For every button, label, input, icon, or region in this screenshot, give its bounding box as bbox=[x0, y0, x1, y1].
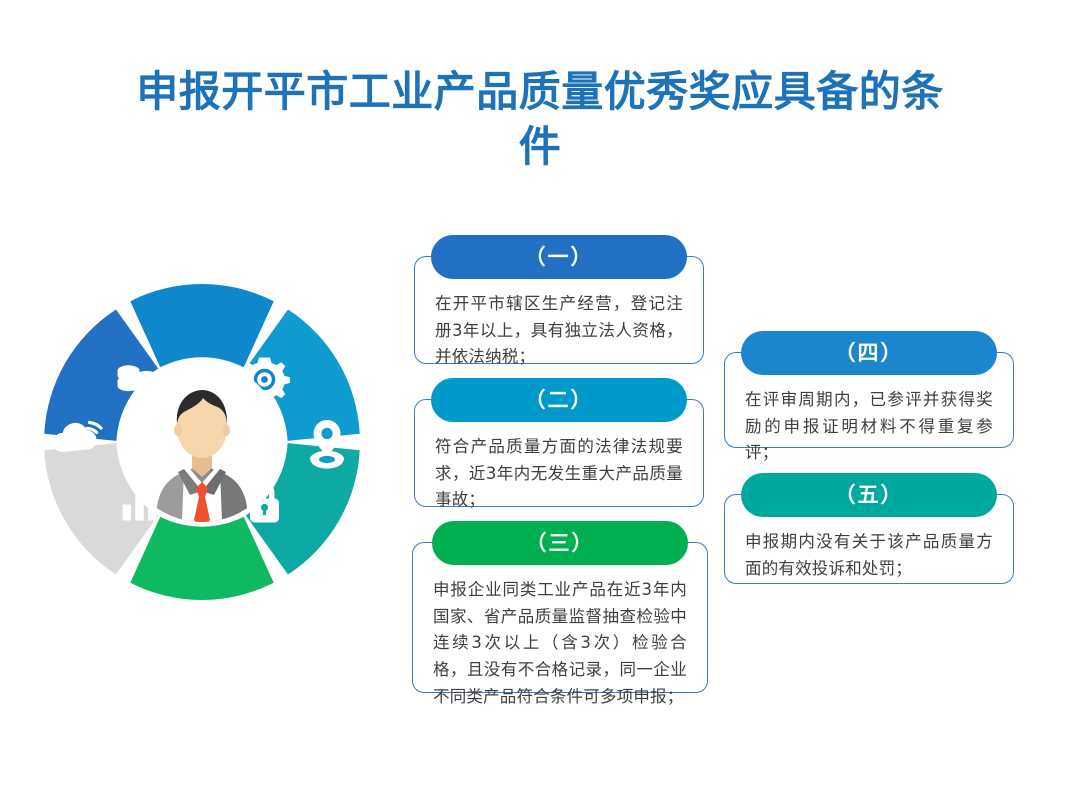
condition-card-3: （三） 申报企业同类工业产品在近3年内国家、省产品质量监督抽查检验中连续3次以上… bbox=[412, 542, 708, 693]
condition-card-5: （五） 申报期内没有关于该产品质量方面的有效投诉和处罚； bbox=[724, 494, 1014, 584]
condition-card-2: （二） 符合产品质量方面的法律法规要求，近3年内无发生重大产品质量事故； bbox=[414, 399, 704, 507]
condition-card-3-text: 申报企业同类工业产品在近3年内国家、省产品质量监督抽查检验中连续3次以上（含3次… bbox=[413, 543, 707, 723]
condition-card-4-header: （四） bbox=[741, 331, 997, 375]
condition-card-5-header: （五） bbox=[741, 473, 997, 517]
wheel-segment-barchart bbox=[130, 517, 273, 600]
location-pin-icon bbox=[310, 420, 344, 469]
condition-card-1-header: （一） bbox=[431, 235, 687, 279]
segmented-donut-graphic bbox=[42, 282, 362, 602]
businessman-avatar bbox=[122, 362, 282, 522]
wheel-segment-gear bbox=[130, 284, 273, 367]
condition-card-3-header: （三） bbox=[432, 521, 688, 565]
page-title: 申报开平市工业产品质量优秀奖应具备的条件 bbox=[120, 64, 960, 175]
condition-card-2-header: （二） bbox=[431, 378, 687, 422]
condition-card-1: （一） 在开平市辖区生产经营，登记注册3年以上，具有独立法人资格，并依法纳税； bbox=[414, 256, 704, 364]
condition-card-4: （四） 在评审周期内，已参评并获得奖励的申报证明材料不得重复参评； bbox=[724, 352, 1014, 448]
